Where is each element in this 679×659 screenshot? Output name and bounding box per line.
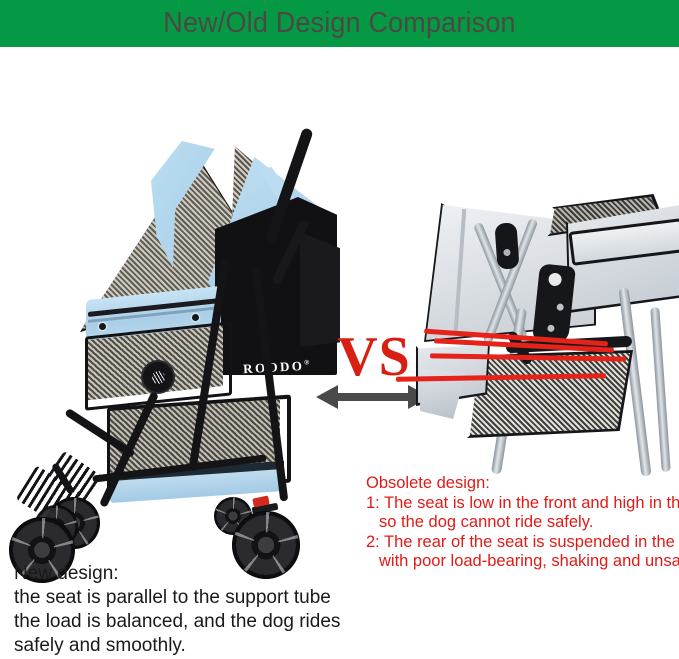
obsolete-design-line-4: with poor load-bearing, shaking and unsa… [366,552,678,572]
brand-logo-text: ROODO [243,358,305,376]
brand-logo: ROODO® [243,354,316,374]
double-headed-arrow-icon [316,385,430,409]
registered-mark-icon: ® [304,358,310,366]
new-design-line-2: the load is balanced, and the dog rides [14,610,354,634]
obsolete-design-line-3: 2: The rear of the seat is suspended in … [366,533,678,553]
old-cross-hub [494,222,519,269]
new-design-product-image: ROODO® [0,57,345,537]
new-design-line-1: the seat is parallel to the support tube [14,586,354,610]
obsolete-design-product-image [418,157,679,472]
old-hinge-bracket [532,263,576,344]
old-rear-leg-2 [650,307,670,472]
brand-badge-icon [141,360,175,394]
obsolete-design-heading: Obsolete design: [366,474,678,494]
header-banner: New/Old Design Comparison [0,0,679,47]
new-design-caption: New design: the seat is parallel to the … [14,562,354,658]
obsolete-design-line-2: so the dog cannot ride safely. [366,513,678,533]
old-basket-mesh-panel [470,353,630,435]
obsolete-design-line-1: 1: The seat is low in the front and high… [366,494,678,514]
snap-button [99,323,106,330]
new-design-line-3: safely and smoothly. [14,634,354,658]
page-title: New/Old Design Comparison [24,0,655,47]
snap-button [192,314,199,321]
comparison-stage: ROODO® VS [0,47,679,659]
obsolete-design-caption: Obsolete design: 1: The seat is low in t… [366,474,678,572]
new-design-heading: New design: [14,562,354,586]
